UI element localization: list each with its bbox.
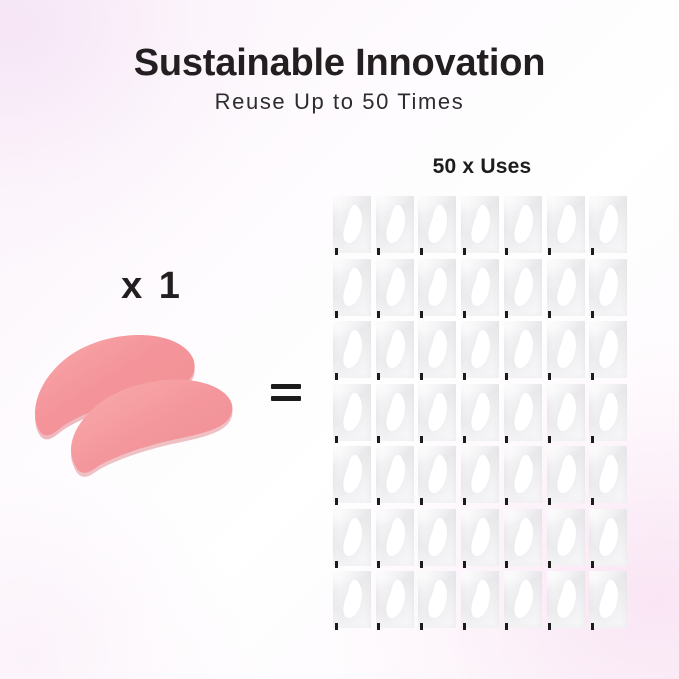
sachet-packet xyxy=(418,446,456,503)
sachet-cell xyxy=(332,320,375,383)
white-eye-patch-icon xyxy=(425,517,449,558)
sachet-cell xyxy=(375,258,418,321)
white-eye-patch-icon xyxy=(554,392,578,433)
sachet-packet xyxy=(333,259,371,316)
sachet-cell xyxy=(503,320,546,383)
packet-notch-icon xyxy=(377,561,380,568)
white-eye-patch-icon xyxy=(596,329,620,370)
white-eye-patch-icon xyxy=(554,267,578,308)
sachet-cell xyxy=(332,383,375,446)
sachet-cell xyxy=(460,570,503,633)
packet-notch-icon xyxy=(548,311,551,318)
sachet-packet xyxy=(547,509,585,566)
sachet-packet xyxy=(376,259,414,316)
sachet-cell xyxy=(588,383,631,446)
sachet-packet xyxy=(461,571,499,628)
white-eye-patch-icon xyxy=(468,454,492,495)
packet-notch-icon xyxy=(591,623,594,630)
white-eye-patch-icon xyxy=(340,267,364,308)
packet-notch-icon xyxy=(505,373,508,380)
sachet-cell xyxy=(588,320,631,383)
sachet-cell xyxy=(503,258,546,321)
pink-eye-patches-illustration xyxy=(20,318,250,483)
sachet-packet xyxy=(589,196,627,253)
sachet-cell xyxy=(332,195,375,258)
packet-notch-icon xyxy=(420,498,423,505)
sachet-cell xyxy=(588,570,631,633)
sachet-packet xyxy=(376,446,414,503)
white-eye-patch-icon xyxy=(554,579,578,620)
sachet-packet xyxy=(504,384,542,441)
packet-notch-icon xyxy=(548,623,551,630)
packet-notch-icon xyxy=(591,498,594,505)
packet-notch-icon xyxy=(505,248,508,255)
white-eye-patch-icon xyxy=(596,454,620,495)
white-eye-patch-icon xyxy=(596,204,620,245)
sachet-cell xyxy=(417,445,460,508)
packet-notch-icon xyxy=(505,311,508,318)
sachet-packet xyxy=(418,196,456,253)
sachet-cell xyxy=(375,508,418,571)
packet-notch-icon xyxy=(420,436,423,443)
sachet-cell xyxy=(332,570,375,633)
packet-notch-icon xyxy=(591,436,594,443)
sachet-cell xyxy=(417,508,460,571)
sachet-packet xyxy=(418,384,456,441)
sachet-packet xyxy=(333,446,371,503)
packet-notch-icon xyxy=(548,373,551,380)
sachet-cell xyxy=(460,320,503,383)
white-eye-patch-icon xyxy=(468,204,492,245)
white-eye-patch-icon xyxy=(554,329,578,370)
sachet-packet xyxy=(461,509,499,566)
packet-notch-icon xyxy=(591,373,594,380)
sachet-cell xyxy=(460,445,503,508)
white-eye-patch-icon xyxy=(468,517,492,558)
packet-notch-icon xyxy=(548,561,551,568)
sachet-cell xyxy=(375,320,418,383)
white-eye-patch-icon xyxy=(340,454,364,495)
equals-bar-bottom xyxy=(271,396,301,401)
packet-notch-icon xyxy=(463,623,466,630)
packet-notch-icon xyxy=(335,561,338,568)
white-eye-patch-icon xyxy=(596,517,620,558)
sachet-cell xyxy=(417,383,460,446)
sachet-cell xyxy=(546,195,589,258)
sachet-packet xyxy=(461,196,499,253)
packet-notch-icon xyxy=(420,373,423,380)
sachet-packet xyxy=(504,571,542,628)
packet-notch-icon xyxy=(505,561,508,568)
packet-notch-icon xyxy=(377,248,380,255)
sachet-cell xyxy=(332,508,375,571)
sachet-packet xyxy=(547,571,585,628)
white-eye-patch-icon xyxy=(511,579,535,620)
white-eye-patch-icon xyxy=(340,517,364,558)
white-eye-patch-icon xyxy=(383,454,407,495)
packet-notch-icon xyxy=(548,248,551,255)
white-eye-patch-icon xyxy=(468,329,492,370)
packet-notch-icon xyxy=(548,436,551,443)
sachet-packet xyxy=(461,321,499,378)
packet-notch-icon xyxy=(420,311,423,318)
white-eye-patch-icon xyxy=(468,267,492,308)
packet-notch-icon xyxy=(591,248,594,255)
sachet-cell xyxy=(417,570,460,633)
white-eye-patch-icon xyxy=(383,392,407,433)
white-eye-patch-icon xyxy=(511,329,535,370)
packet-notch-icon xyxy=(548,498,551,505)
white-eye-patch-icon xyxy=(511,204,535,245)
page-title: Sustainable Innovation xyxy=(0,41,679,85)
packet-notch-icon xyxy=(463,311,466,318)
packet-notch-icon xyxy=(463,248,466,255)
sachet-packet xyxy=(376,321,414,378)
sachet-packet xyxy=(547,321,585,378)
sachet-cell xyxy=(375,570,418,633)
packet-notch-icon xyxy=(463,373,466,380)
sachet-packet xyxy=(376,196,414,253)
sachet-cell xyxy=(503,195,546,258)
sachet-cell xyxy=(588,508,631,571)
white-eye-patch-icon xyxy=(596,267,620,308)
white-eye-patch-icon xyxy=(425,392,449,433)
sachet-cell xyxy=(375,195,418,258)
white-eye-patch-icon xyxy=(554,204,578,245)
page-subtitle: Reuse Up to 50 Times xyxy=(0,88,679,116)
sachet-cell xyxy=(332,445,375,508)
sachet-cell xyxy=(503,570,546,633)
white-eye-patch-icon xyxy=(425,454,449,495)
infographic-canvas: Sustainable Innovation Reuse Up to 50 Ti… xyxy=(0,0,679,679)
packet-notch-icon xyxy=(420,248,423,255)
equals-bar-top xyxy=(271,384,301,389)
sachet-packet xyxy=(376,571,414,628)
sachet-packet xyxy=(461,446,499,503)
packet-notch-icon xyxy=(377,498,380,505)
sachet-cell xyxy=(503,383,546,446)
sachet-packet xyxy=(589,446,627,503)
sachet-packet xyxy=(504,446,542,503)
white-eye-patch-icon xyxy=(383,204,407,245)
sachet-cell xyxy=(546,383,589,446)
packet-notch-icon xyxy=(420,561,423,568)
sachet-packet xyxy=(376,384,414,441)
sachet-packet xyxy=(333,384,371,441)
grid-heading: 50 x Uses xyxy=(332,154,632,180)
white-eye-patch-icon xyxy=(511,267,535,308)
packet-notch-icon xyxy=(591,561,594,568)
sachet-packet xyxy=(461,259,499,316)
sachet-cell xyxy=(546,320,589,383)
sachet-cell xyxy=(546,258,589,321)
white-eye-patch-icon xyxy=(468,579,492,620)
sachet-packet xyxy=(547,196,585,253)
sachet-packet xyxy=(333,196,371,253)
sachet-packet xyxy=(418,509,456,566)
packet-notch-icon xyxy=(505,498,508,505)
white-eye-patch-icon xyxy=(425,204,449,245)
sachet-packet xyxy=(589,571,627,628)
sachet-packet xyxy=(418,321,456,378)
packet-notch-icon xyxy=(591,311,594,318)
white-eye-patch-icon xyxy=(425,267,449,308)
sachet-cell xyxy=(375,383,418,446)
sachet-cell xyxy=(546,570,589,633)
white-eye-patch-icon xyxy=(425,329,449,370)
packet-notch-icon xyxy=(335,623,338,630)
sachet-cell xyxy=(503,445,546,508)
white-eye-patch-icon xyxy=(511,517,535,558)
white-eye-patch-icon xyxy=(596,579,620,620)
white-eye-patch-icon xyxy=(383,517,407,558)
equals-icon xyxy=(271,384,301,402)
packet-notch-icon xyxy=(505,436,508,443)
white-eye-patch-icon xyxy=(468,392,492,433)
sachet-cell xyxy=(588,258,631,321)
sachet-packet xyxy=(418,571,456,628)
packet-notch-icon xyxy=(377,623,380,630)
sachet-packet xyxy=(333,509,371,566)
packet-notch-icon xyxy=(505,623,508,630)
packet-notch-icon xyxy=(463,498,466,505)
packet-notch-icon xyxy=(463,561,466,568)
packet-notch-icon xyxy=(377,311,380,318)
packet-notch-icon xyxy=(377,436,380,443)
sachet-cell xyxy=(460,383,503,446)
sachet-packet xyxy=(547,446,585,503)
packet-notch-icon xyxy=(335,311,338,318)
white-eye-patch-icon xyxy=(511,454,535,495)
sachet-cell xyxy=(417,320,460,383)
sachet-packet xyxy=(589,384,627,441)
sachet-cell xyxy=(417,195,460,258)
white-eye-patch-icon xyxy=(340,579,364,620)
packet-notch-icon xyxy=(420,623,423,630)
sachet-cell xyxy=(546,508,589,571)
packet-notch-icon xyxy=(463,436,466,443)
sachet-packet xyxy=(589,321,627,378)
sachet-cell xyxy=(503,508,546,571)
white-eye-patch-icon xyxy=(425,579,449,620)
packet-notch-icon xyxy=(377,373,380,380)
sachet-packet xyxy=(504,196,542,253)
white-eye-patch-icon xyxy=(340,204,364,245)
sachet-packet xyxy=(589,509,627,566)
sachet-packet xyxy=(418,259,456,316)
packet-notch-icon xyxy=(335,436,338,443)
packet-notch-icon xyxy=(335,248,338,255)
sachet-cell xyxy=(332,258,375,321)
white-eye-patch-icon xyxy=(511,392,535,433)
sachet-packet xyxy=(589,259,627,316)
sachet-grid xyxy=(332,195,631,633)
sachet-cell xyxy=(460,195,503,258)
multiplier-label: x 1 xyxy=(62,264,242,308)
white-eye-patch-icon xyxy=(596,392,620,433)
sachet-packet xyxy=(504,321,542,378)
sachet-cell xyxy=(588,445,631,508)
sachet-cell xyxy=(375,445,418,508)
white-eye-patch-icon xyxy=(340,392,364,433)
sachet-cell xyxy=(588,195,631,258)
sachet-packet xyxy=(547,259,585,316)
packet-notch-icon xyxy=(335,373,338,380)
sachet-packet xyxy=(547,384,585,441)
sachet-packet xyxy=(333,321,371,378)
sachet-cell xyxy=(460,508,503,571)
white-eye-patch-icon xyxy=(383,329,407,370)
sachet-packet xyxy=(504,259,542,316)
sachet-packet xyxy=(504,509,542,566)
sachet-packet xyxy=(376,509,414,566)
sachet-packet xyxy=(333,571,371,628)
white-eye-patch-icon xyxy=(340,329,364,370)
packet-notch-icon xyxy=(335,498,338,505)
white-eye-patch-icon xyxy=(383,579,407,620)
sachet-cell xyxy=(546,445,589,508)
white-eye-patch-icon xyxy=(383,267,407,308)
white-eye-patch-icon xyxy=(554,454,578,495)
sachet-cell xyxy=(460,258,503,321)
sachet-packet xyxy=(461,384,499,441)
white-eye-patch-icon xyxy=(554,517,578,558)
sachet-cell xyxy=(417,258,460,321)
